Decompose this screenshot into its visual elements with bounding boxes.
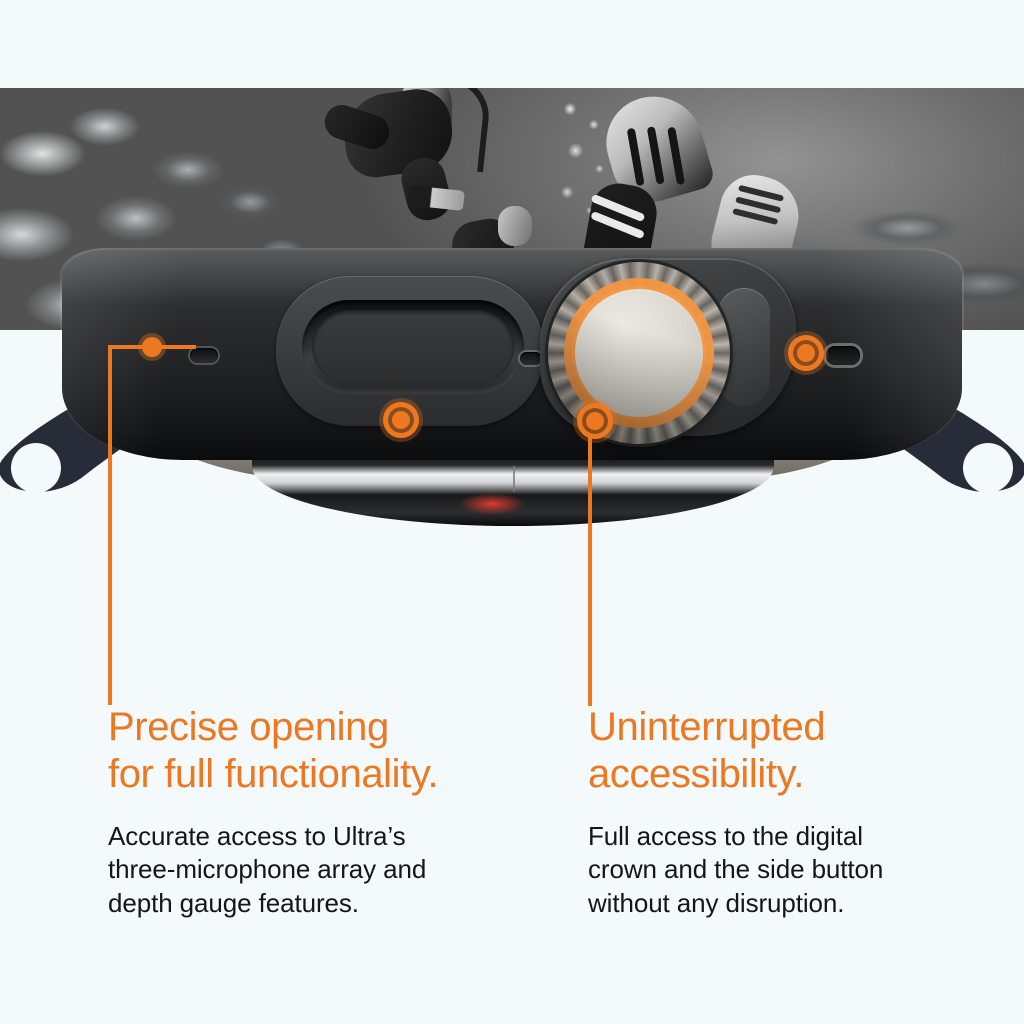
heart-sensor-glow — [458, 493, 526, 515]
leader-line-right-vertical — [588, 416, 592, 706]
microphone-opening — [302, 300, 524, 394]
feature-column-precise-opening: Precise opening for full functionality. … — [108, 704, 558, 921]
side-button[interactable] — [826, 346, 860, 365]
digital-crown[interactable] — [548, 262, 730, 444]
callout-marker-side-button[interactable] — [788, 335, 824, 371]
speaker-port — [520, 352, 542, 365]
leader-line-left-vertical — [108, 345, 112, 705]
feature-headline: Precise opening for full functionality. — [108, 704, 558, 798]
callout-marker-case-edge[interactable] — [142, 337, 162, 357]
feature-text-columns: Precise opening for full functionality. … — [0, 704, 1024, 964]
feature-body-text: Full access to the digital crown and the… — [588, 820, 988, 921]
left-side-port — [190, 348, 218, 363]
callout-marker-digital-crown[interactable] — [577, 403, 613, 439]
microphone-opening-inner — [312, 310, 514, 384]
feature-column-uninterrupted-accessibility: Uninterrupted accessibility. Full access… — [588, 704, 988, 921]
product-feature-page: Precise opening for full functionality. … — [0, 0, 1024, 1024]
feature-headline: Uninterrupted accessibility. — [588, 704, 988, 798]
callout-marker-microphone-opening[interactable] — [383, 402, 419, 438]
watch-back-crystal — [252, 452, 774, 526]
crystal-divider — [513, 466, 515, 492]
feature-body-text: Accurate access to Ultra’s three-microph… — [108, 820, 558, 921]
